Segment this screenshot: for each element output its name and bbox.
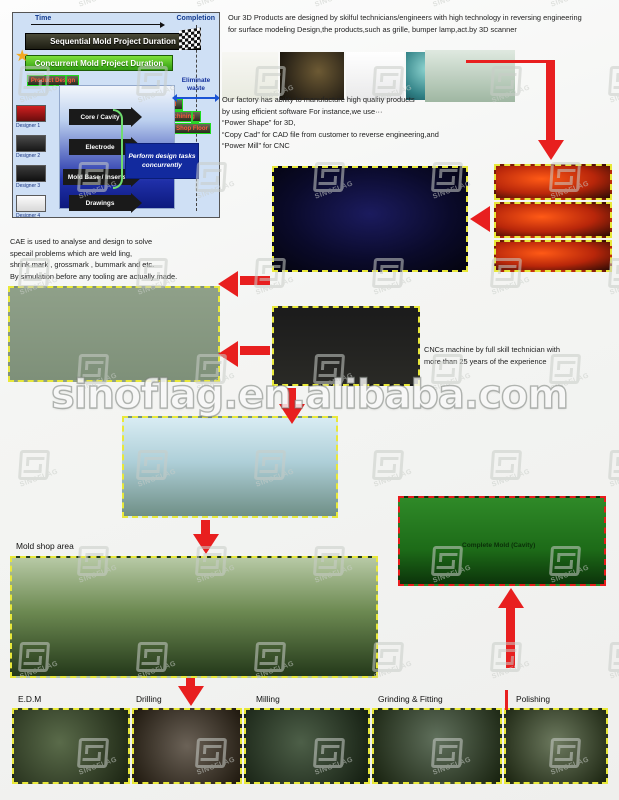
arrow-to-bumper-column <box>538 140 564 160</box>
arrow-to-cae <box>218 271 238 297</box>
infographic-page: SINOFLAGSINOFLAGSINOFLAGSINOFLAGSINOFLAG… <box>0 0 619 800</box>
arrow-to-moldshop <box>193 534 219 554</box>
watermark-tile-label: SINOFLAG <box>196 0 259 9</box>
watermark-tile-label: SINOFLAG <box>550 364 613 392</box>
products-3d-text: Our 3D Products are designed by skilful … <box>228 12 616 35</box>
photo-process-edm <box>12 708 130 784</box>
photo-cnc-workstation <box>272 306 420 386</box>
sinoflag-logo-icon <box>372 450 404 480</box>
watermark-tile-label: SINOFLAG <box>373 652 436 680</box>
watermark-tile: SINOFLAG <box>491 642 555 694</box>
sinoflag-logo-icon <box>608 66 619 96</box>
photo-3d-mold-render <box>272 166 468 272</box>
watermark-tile-label: SINOFLAG <box>0 0 23 9</box>
process-label-edm: E.D.M <box>18 694 41 704</box>
cnc-text: CNCs machine by full skill technician wi… <box>424 344 614 367</box>
watermark-tile: SINOFLAG <box>19 450 83 502</box>
photo-mold-shop <box>10 556 378 678</box>
watermark-tile: SINOFLAG <box>609 450 619 502</box>
connector-line-top <box>466 60 548 63</box>
watermark-tile-label: SINOFLAG <box>314 0 377 9</box>
photo-cae-simulation <box>8 286 220 382</box>
sequential-duration-bar: Sequential Mold Project Duration <box>25 33 201 50</box>
watermark-tile-label: SINOFLAG <box>491 460 554 488</box>
time-axis-line <box>31 24 161 25</box>
gantt-link-4 <box>191 111 199 123</box>
designer-3: Designer 3 <box>16 165 56 189</box>
watermark-tile-label: SINOFLAG <box>609 652 619 680</box>
process-label-drilling: Drilling <box>136 694 162 704</box>
designer-3-label: Designer 3 <box>16 183 40 189</box>
checkered-flag-icon <box>179 27 201 50</box>
watermark-tile-label: SINOFLAG <box>19 460 82 488</box>
sinoflag-logo-icon <box>18 450 50 480</box>
complete-mold-cavity-caption: Complete Mold (Cavity) <box>462 542 535 549</box>
designer-1-thumb <box>16 105 46 122</box>
watermark-tile-label: SINOFLAG <box>491 652 554 680</box>
arrow-mold-to-bumper <box>470 206 490 232</box>
watermark-tile: SINOFLAG <box>373 642 437 694</box>
stream-drawings: Drawings <box>69 195 131 211</box>
time-axis-label: Time <box>35 15 51 22</box>
photo-process-milling <box>244 708 370 784</box>
gantt-task-shop-floor: Shop Floor <box>173 123 211 134</box>
watermark-tile-label: SINOFLAG <box>373 268 436 296</box>
eliminate-waste-label: Eliminate waste <box>175 77 217 93</box>
photo-process-drilling <box>132 708 242 784</box>
photo-car-model <box>346 52 404 100</box>
concurrency-brace <box>113 109 123 189</box>
sinoflag-logo-icon <box>608 450 619 480</box>
process-label-grinding: Grinding & Fitting <box>378 694 443 704</box>
process-label-milling: Milling <box>256 694 280 704</box>
designer-4-thumb <box>16 195 46 212</box>
designer-3-thumb <box>16 165 46 182</box>
completion-label: Completion <box>177 15 216 22</box>
watermark-tile: SINOFLAG <box>373 450 437 502</box>
photo-bumper-render-1 <box>494 164 612 200</box>
arrow-to-factory <box>279 404 305 424</box>
sinoflag-logo-icon <box>490 450 522 480</box>
eliminate-waste-arrow <box>177 97 215 99</box>
photo-grille-render <box>494 202 612 238</box>
concurrent-duration-bar: Concurrent Mold Project Duration <box>25 55 173 71</box>
connector-cnc-stem <box>240 346 270 355</box>
designer-1: Designer 1 <box>16 105 56 129</box>
cae-text: CAE is used to analyse and design to sol… <box>10 236 220 282</box>
watermark-tile-label: SINOFLAG <box>609 460 619 488</box>
photo-bumper-render-2 <box>494 240 612 272</box>
watermark-tile-label: SINOFLAG <box>78 0 141 9</box>
watermark-tile-label: SINOFLAG <box>373 460 436 488</box>
photo-process-grinding <box>372 708 502 784</box>
connector-to-complete-mold <box>506 606 515 668</box>
concurrent-engineering-diagram: Time Completion Sequential Mold Project … <box>12 12 220 218</box>
watermark-tile: SINOFLAG <box>609 66 619 118</box>
watermark-tile-label: SINOFLAG <box>491 268 554 296</box>
arrow-to-cae-2 <box>218 341 238 367</box>
designer-4: Designer 4 <box>16 195 56 218</box>
watermark-tile: SINOFLAG <box>609 642 619 694</box>
watermark-tile: SINOFLAG <box>491 450 555 502</box>
watermark-tile-label: SINOFLAG <box>432 364 495 392</box>
designer-4-label: Designer 4 <box>16 213 40 218</box>
photo-process-polishing <box>504 708 608 784</box>
watermark-tile-label: SINOFLAG <box>609 76 619 104</box>
designer-2-thumb <box>16 135 46 152</box>
polishing-tick <box>505 690 508 710</box>
perform-concurrently-note: Perform design tasks concurrently <box>125 143 199 179</box>
mold-shop-area-label: Mold shop area <box>16 541 74 551</box>
watermark-tile-label: SINOFLAG <box>550 0 613 9</box>
process-label-polishing: Polishing <box>516 694 550 704</box>
software-text: Our factory has ability to manufacture h… <box>222 94 472 152</box>
arrow-to-complete-mold <box>498 588 524 608</box>
connector-stem-right <box>546 60 555 142</box>
designer-2: Designer 2 <box>16 135 56 159</box>
watermark-tile-label: SINOFLAG <box>609 268 619 296</box>
designer-2-label: Designer 2 <box>16 153 40 159</box>
photo-complete-mold-cavity: Complete Mold (Cavity) <box>398 496 606 586</box>
photo-scanner-dark <box>280 52 344 100</box>
sinoflag-logo-icon <box>608 642 619 672</box>
watermark-tile-label: SINOFLAG <box>432 0 495 9</box>
connector-cae-stem <box>240 276 270 285</box>
photo-scan-sheet <box>222 52 278 100</box>
arrow-to-process-row <box>178 686 204 706</box>
photo-factory-interior <box>122 416 338 518</box>
designer-1-label: Designer 1 <box>16 123 40 129</box>
